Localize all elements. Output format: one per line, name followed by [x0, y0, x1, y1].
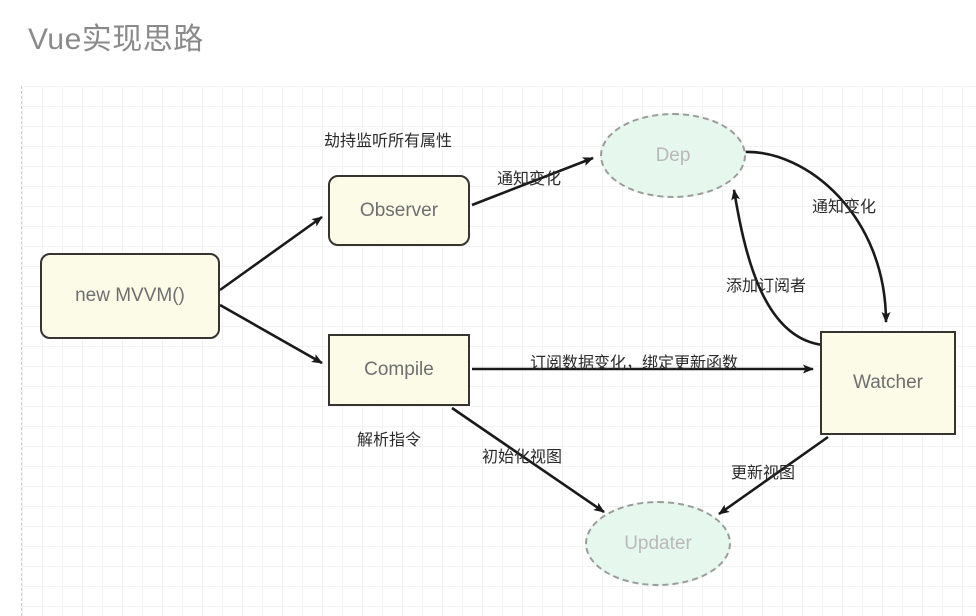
edge-label-notify-change-observer: 通知变化: [497, 172, 561, 188]
node-dep[interactable]: Dep: [600, 113, 746, 198]
edge-label-hijack-watch-all-properties: 劫持监听所有属性: [324, 134, 452, 150]
edge-label-add-subscriber: 添加订阅者: [726, 279, 806, 295]
node-updater-label: Updater: [624, 533, 692, 555]
node-compile[interactable]: Compile: [328, 334, 470, 406]
node-new-mvvm-label: new MVVM(): [75, 285, 185, 307]
edge-label-notify-change-dep: 通知变化: [812, 200, 876, 216]
node-observer[interactable]: Observer: [328, 175, 470, 246]
node-observer-label: Observer: [360, 200, 438, 222]
node-updater[interactable]: Updater: [585, 501, 731, 586]
node-compile-label: Compile: [364, 359, 434, 381]
node-watcher-label: Watcher: [853, 372, 923, 394]
edge-label-parse-directives: 解析指令: [357, 433, 421, 449]
node-new-mvvm[interactable]: new MVVM(): [40, 253, 220, 339]
page-title: Vue实现思路: [28, 14, 204, 58]
edge-label-init-view: 初始化视图: [482, 450, 562, 466]
edge-label-subscribe-data-change-bind-update-fn: 订阅数据变化，绑定更新函数: [530, 356, 738, 372]
edge-label-update-view: 更新视图: [731, 466, 795, 482]
node-dep-label: Dep: [656, 145, 691, 167]
node-watcher[interactable]: Watcher: [820, 331, 956, 435]
